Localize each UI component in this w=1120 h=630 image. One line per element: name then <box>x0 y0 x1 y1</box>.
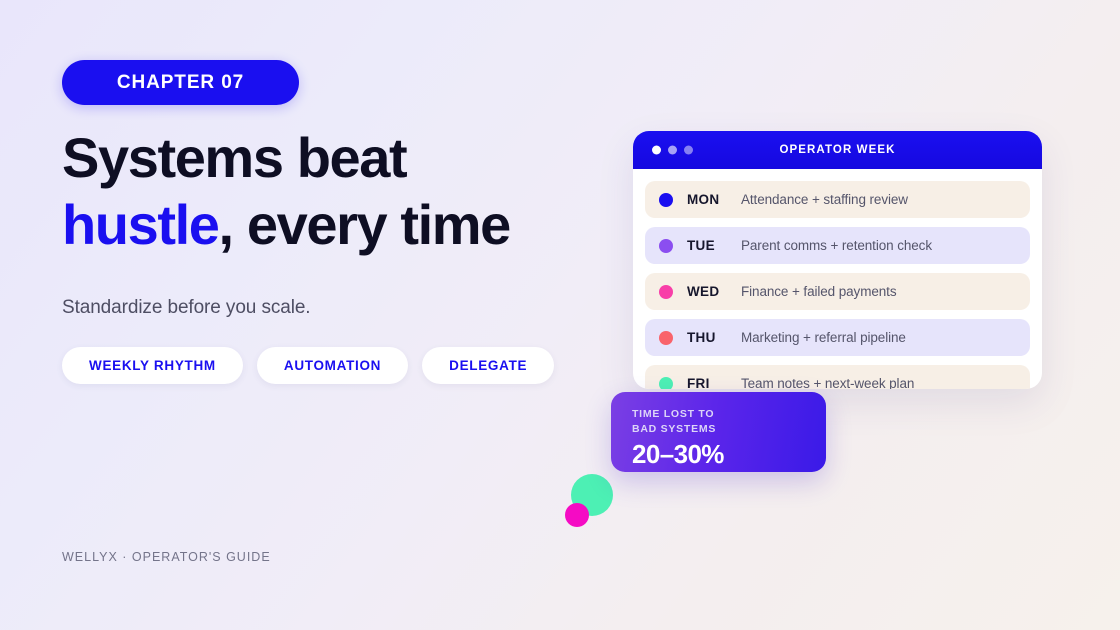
footer-brand-note: WELLYX · OPERATOR'S GUIDE <box>62 550 271 564</box>
day-row-wed: WED Finance + failed payments <box>645 273 1030 310</box>
week-rows-list: MON Attendance + staffing review TUE Par… <box>633 169 1042 389</box>
subtitle: Standardize before you scale. <box>62 297 310 319</box>
window-dot-icon <box>668 146 677 155</box>
window-dot-icon <box>684 146 693 155</box>
headline-accent-word: hustle <box>62 193 219 256</box>
window-control-dots <box>652 146 693 155</box>
window-dot-icon <box>652 146 661 155</box>
stat-value: 20–30% <box>632 439 826 470</box>
card-header: OPERATOR WEEK <box>633 131 1042 169</box>
day-label: MON <box>687 192 741 207</box>
stat-label-line-1: TIME LOST TO <box>632 407 826 422</box>
day-description: Attendance + staffing review <box>741 192 908 207</box>
stat-label-line-2: BAD SYSTEMS <box>632 422 826 437</box>
card-title: OPERATOR WEEK <box>633 144 1042 156</box>
day-description: Parent comms + retention check <box>741 238 932 253</box>
headline-part-two: , every time <box>219 193 510 256</box>
day-description: Finance + failed payments <box>741 284 896 299</box>
chapter-badge: CHAPTER 07 <box>62 60 299 105</box>
page-title: Systems beat hustle, every time <box>62 124 622 258</box>
pill-delegate[interactable]: DELEGATE <box>422 347 554 384</box>
day-status-dot-icon <box>659 193 673 207</box>
day-description: Marketing + referral pipeline <box>741 330 906 345</box>
pill-label: DELEGATE <box>449 358 527 373</box>
pill-label: AUTOMATION <box>284 358 381 373</box>
day-row-mon: MON Attendance + staffing review <box>645 181 1030 218</box>
day-description: Team notes + next-week plan <box>741 376 914 389</box>
day-status-dot-icon <box>659 239 673 253</box>
tag-pill-row: WEEKLY RHYTHM AUTOMATION DELEGATE <box>62 347 554 384</box>
day-row-tue: TUE Parent comms + retention check <box>645 227 1030 264</box>
day-status-dot-icon <box>659 331 673 345</box>
day-status-dot-icon <box>659 377 673 390</box>
day-row-thu: THU Marketing + referral pipeline <box>645 319 1030 356</box>
day-row-fri: FRI Team notes + next-week plan <box>645 365 1030 389</box>
pill-weekly-rhythm[interactable]: WEEKLY RHYTHM <box>62 347 243 384</box>
stat-badge: TIME LOST TO BAD SYSTEMS 20–30% <box>611 392 826 472</box>
operator-week-card: OPERATOR WEEK MON Attendance + staffing … <box>633 131 1042 389</box>
headline-part-one: Systems beat <box>62 126 406 189</box>
day-status-dot-icon <box>659 285 673 299</box>
day-label: WED <box>687 284 741 299</box>
decorative-magenta-circle <box>565 503 589 527</box>
chapter-badge-label: CHAPTER 07 <box>117 72 244 94</box>
day-label: FRI <box>687 376 741 389</box>
day-label: TUE <box>687 238 741 253</box>
day-label: THU <box>687 330 741 345</box>
left-content-column: CHAPTER 07 Systems beat hustle, every ti… <box>62 0 622 630</box>
pill-automation[interactable]: AUTOMATION <box>257 347 408 384</box>
pill-label: WEEKLY RHYTHM <box>89 358 216 373</box>
